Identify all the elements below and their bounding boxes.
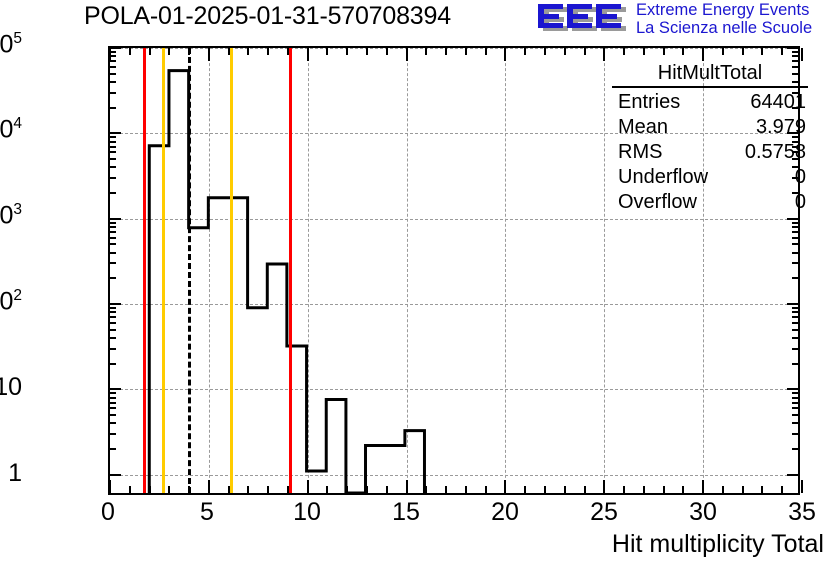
y-tick-label-1e3: 103 — [0, 202, 22, 228]
eee-logo: Extreme Energy Events La Scienza nelle S… — [536, 2, 832, 38]
marker-line-mean — [188, 48, 191, 493]
marker-line-yellow-high — [230, 48, 233, 493]
stats-value: 0.5758 — [745, 140, 806, 165]
stats-key: Entries — [618, 90, 680, 115]
stats-value: 3.979 — [756, 115, 806, 140]
stats-row: Underflow0 — [612, 165, 808, 190]
page-title: POLA-01-2025-01-31-570708394 — [84, 2, 451, 31]
x-tick-label-30: 30 — [681, 500, 725, 525]
stats-rows: Entries64401Mean3.979RMS0.5758Underflow0… — [612, 90, 808, 215]
x-tick-major-35 — [801, 48, 803, 61]
x-tick-label-5: 5 — [193, 500, 221, 525]
x-tick-major-35 — [801, 480, 803, 493]
eee-logo-line2: La Scienza nelle Scuole — [636, 20, 812, 38]
stats-key: Overflow — [618, 190, 697, 215]
x-tick-label-25: 25 — [582, 500, 626, 525]
stats-row: Overflow0 — [612, 190, 808, 215]
x-tick-label-10: 10 — [285, 500, 329, 525]
x-tick-label-35: 35 — [780, 500, 824, 525]
stats-key: Mean — [618, 115, 668, 140]
eee-logo-text: Extreme Energy Events La Scienza nelle S… — [636, 2, 812, 37]
eee-logo-line1: Extreme Energy Events — [636, 2, 812, 20]
y-tick-label-1e2: 102 — [0, 288, 22, 314]
stats-value: 64401 — [750, 90, 806, 115]
x-tick-label-20: 20 — [483, 500, 527, 525]
stats-row: Mean3.979 — [612, 115, 808, 140]
x-axis-title: Hit multiplicity Total — [612, 530, 824, 559]
stats-value: 0 — [795, 165, 806, 190]
marker-line-red-high — [289, 48, 292, 493]
stats-row: RMS0.5758 — [612, 140, 808, 165]
marker-line-red-low — [143, 48, 146, 493]
y-tick-label-1: 1 — [8, 461, 22, 486]
x-tick-label-15: 15 — [384, 500, 428, 525]
stats-value: 0 — [795, 190, 806, 215]
eee-logo-mark — [536, 3, 628, 35]
y-tick-label-10: 10 — [0, 375, 22, 400]
y-tick-label-1e4: 104 — [0, 116, 22, 142]
stats-row: Entries64401 — [612, 90, 808, 115]
stats-box: HitMultTotal Entries64401Mean3.979RMS0.5… — [612, 62, 808, 215]
x-tick-label-0: 0 — [94, 500, 122, 525]
stats-title: HitMultTotal — [612, 62, 808, 88]
root-canvas: POLA-01-2025-01-31-570708394 — [0, 0, 836, 572]
stats-key: RMS — [618, 140, 662, 165]
stats-key: Underflow — [618, 165, 708, 190]
y-tick-label-1e5: 105 — [0, 31, 22, 57]
marker-line-yellow-low — [162, 48, 165, 493]
